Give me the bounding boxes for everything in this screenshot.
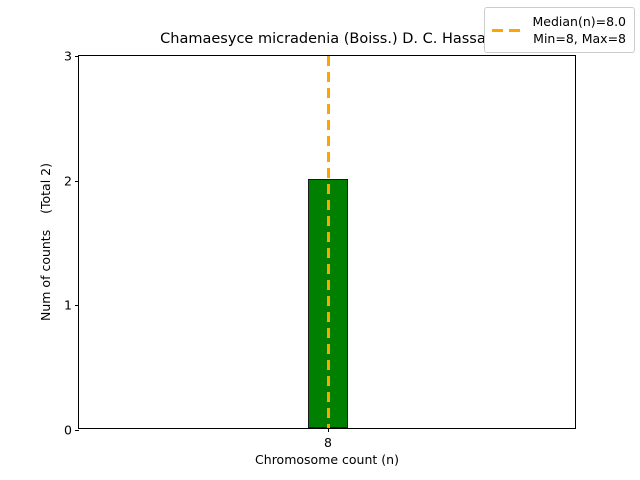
y-tick-label: 3 bbox=[64, 49, 72, 64]
plot-area: 0123 8 bbox=[78, 55, 576, 429]
y-axis-label: Num of counts (Total 2) bbox=[38, 55, 56, 429]
y-tick-label: 1 bbox=[64, 298, 72, 313]
y-tick-label: 2 bbox=[64, 173, 72, 188]
x-axis-label: Chromosome count (n) bbox=[78, 452, 576, 467]
y-tick-mark bbox=[75, 430, 79, 431]
y-tick-mark bbox=[75, 181, 79, 182]
legend-median-label: Median(n)=8.0 bbox=[533, 14, 627, 29]
median-line-swatch-icon bbox=[492, 29, 525, 32]
x-tick-label: 8 bbox=[324, 435, 332, 450]
plot-inner bbox=[79, 56, 575, 428]
y-tick-mark bbox=[75, 56, 79, 57]
y-tick-mark bbox=[75, 305, 79, 306]
x-tick-mark bbox=[328, 428, 329, 432]
legend-text: Median(n)=8.0 Min=8, Max=8 bbox=[533, 13, 627, 47]
legend-minmax-label: Min=8, Max=8 bbox=[533, 31, 626, 46]
chart-legend: Median(n)=8.0 Min=8, Max=8 bbox=[484, 7, 636, 53]
y-tick-label: 0 bbox=[64, 423, 72, 438]
median-line-marker bbox=[327, 56, 330, 428]
chart-figure: Chamaesyce micradenia (Boiss.) D. C. Has… bbox=[0, 0, 640, 480]
